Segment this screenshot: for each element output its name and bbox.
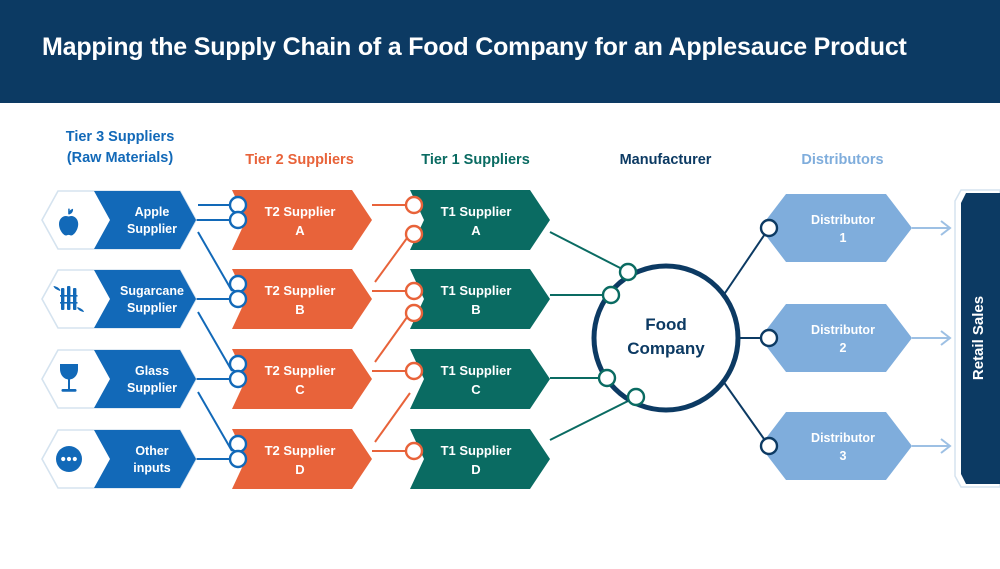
dots-manufacturer-inputs [599,264,644,405]
dots-distributor-inputs [761,220,777,454]
dots-tier1-inputs [406,197,422,459]
connector-dot-layer [0,0,1000,569]
supply-chain-diagram: Mapping the Supply Chain of a Food Compa… [0,0,1000,569]
dots-tier2-inputs [230,197,246,467]
